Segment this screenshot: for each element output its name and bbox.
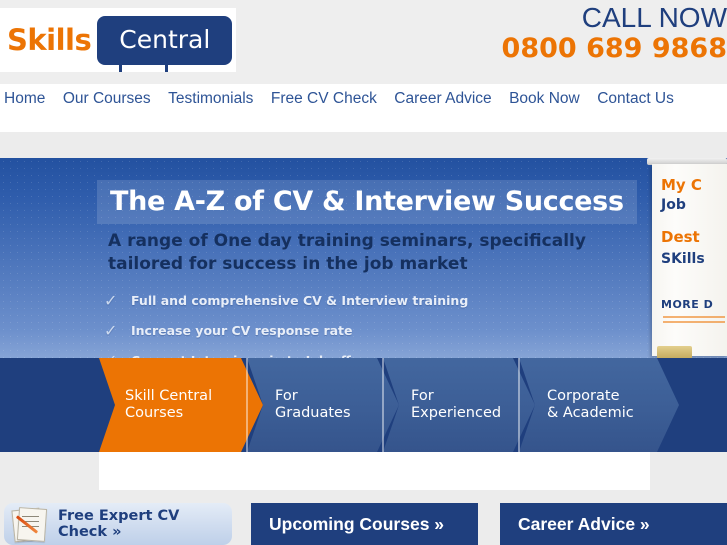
phone-number[interactable]: 0800 689 9868 — [502, 35, 727, 62]
tab-separator — [518, 358, 520, 452]
hero-banner: The A-Z of CV & Interview Success A rang… — [0, 158, 727, 490]
tab-skill-central-courses[interactable]: Skill Central Courses — [99, 358, 263, 452]
hero-subheading-line-1: A range of One day training seminars, sp… — [108, 230, 608, 253]
call-now-block: CALL NOW 0800 689 9868 — [502, 4, 727, 62]
hero-bullet-item: ✓ Increase your CV response rate — [104, 321, 468, 340]
tab-separator — [246, 358, 248, 452]
hero-headline: The A-Z of CV & Interview Success — [97, 180, 637, 224]
promo-label: Free Expert CV Check » — [58, 508, 232, 540]
flipchart-text-line-1: My C — [661, 176, 702, 194]
nav-item-career-advice[interactable]: Career Advice — [394, 89, 491, 109]
hero-subheading: A range of One day training seminars, sp… — [108, 230, 608, 276]
hero-bullet-label: Full and comprehensive CV & Interview tr… — [131, 293, 468, 308]
hero-bottom-strip — [0, 452, 727, 490]
hero-tab-strip: Skill Central Courses For Graduates For … — [0, 358, 727, 452]
call-now-label: CALL NOW — [502, 4, 727, 32]
flipchart-text-line-2: Job — [661, 197, 686, 213]
hero-bullet-label: Increase your CV response rate — [131, 323, 353, 338]
nav-item-free-cv-check[interactable]: Free CV Check — [271, 89, 377, 109]
hero-subheading-line-2: tailored for success in the job market — [108, 253, 608, 276]
flipchart-small-text — [663, 316, 725, 326]
check-icon: ✓ — [104, 321, 122, 340]
tab-label-line-2: Graduates — [275, 405, 351, 421]
logo-brand-first: Skills — [4, 23, 97, 57]
site-header: Skills Central CALL NOW 0800 689 9868 — [0, 0, 727, 84]
tab-label-line-1: For — [275, 388, 298, 404]
promo-upcoming-courses[interactable]: Upcoming Courses » — [251, 503, 478, 545]
cv-document-icon — [12, 507, 50, 541]
hero-bottom-right-gap — [650, 452, 727, 490]
site-logo[interactable]: Skills Central — [0, 8, 236, 72]
nav-list: Home Our Courses Testimonials Free CV Ch… — [0, 89, 727, 109]
tab-label-line-2: Courses — [125, 405, 183, 421]
tab-for-experienced[interactable]: For Experienced — [383, 358, 535, 452]
promo-label: Upcoming Courses » — [269, 514, 444, 535]
hero-bottom-left-gap — [0, 452, 99, 490]
tab-label-line-2: Experienced — [411, 405, 501, 421]
promo-career-advice[interactable]: Career Advice » — [500, 503, 727, 545]
promo-box-row: Free Expert CV Check » Upcoming Courses … — [0, 503, 727, 545]
nav-item-our-courses[interactable]: Our Courses — [63, 89, 151, 109]
promo-label: Career Advice » — [518, 514, 650, 535]
nav-item-home[interactable]: Home — [4, 89, 45, 109]
tab-label-line-1: Skill Central — [125, 388, 212, 404]
tab-corporate-academic[interactable]: Corporate & Academic — [519, 358, 679, 452]
hero-bullet-item: ✓ Full and comprehensive CV & Interview … — [104, 291, 468, 310]
tab-label-line-2: & Academic — [547, 405, 634, 421]
nav-item-contact-us[interactable]: Contact Us — [597, 89, 674, 109]
check-icon: ✓ — [104, 291, 122, 310]
flipchart-text-line-4: SKills — [661, 251, 705, 267]
flipchart-text-line-3: Dest — [661, 228, 700, 246]
nav-item-book-now[interactable]: Book Now — [509, 89, 580, 109]
flipchart-paper: My C Job Dest SKills MORE D — [652, 164, 727, 356]
tab-label-line-1: Corporate — [547, 388, 620, 404]
nav-item-testimonials[interactable]: Testimonials — [168, 89, 253, 109]
tab-label-line-1: For — [411, 388, 434, 404]
main-navigation: Home Our Courses Testimonials Free CV Ch… — [0, 84, 727, 132]
tab-separator — [382, 358, 384, 452]
promo-free-expert-cv-check[interactable]: Free Expert CV Check » — [4, 503, 232, 545]
tab-for-graduates[interactable]: For Graduates — [247, 358, 399, 452]
flipchart-text-line-5: MORE D — [661, 298, 713, 311]
logo-brand-second: Central — [97, 16, 232, 65]
